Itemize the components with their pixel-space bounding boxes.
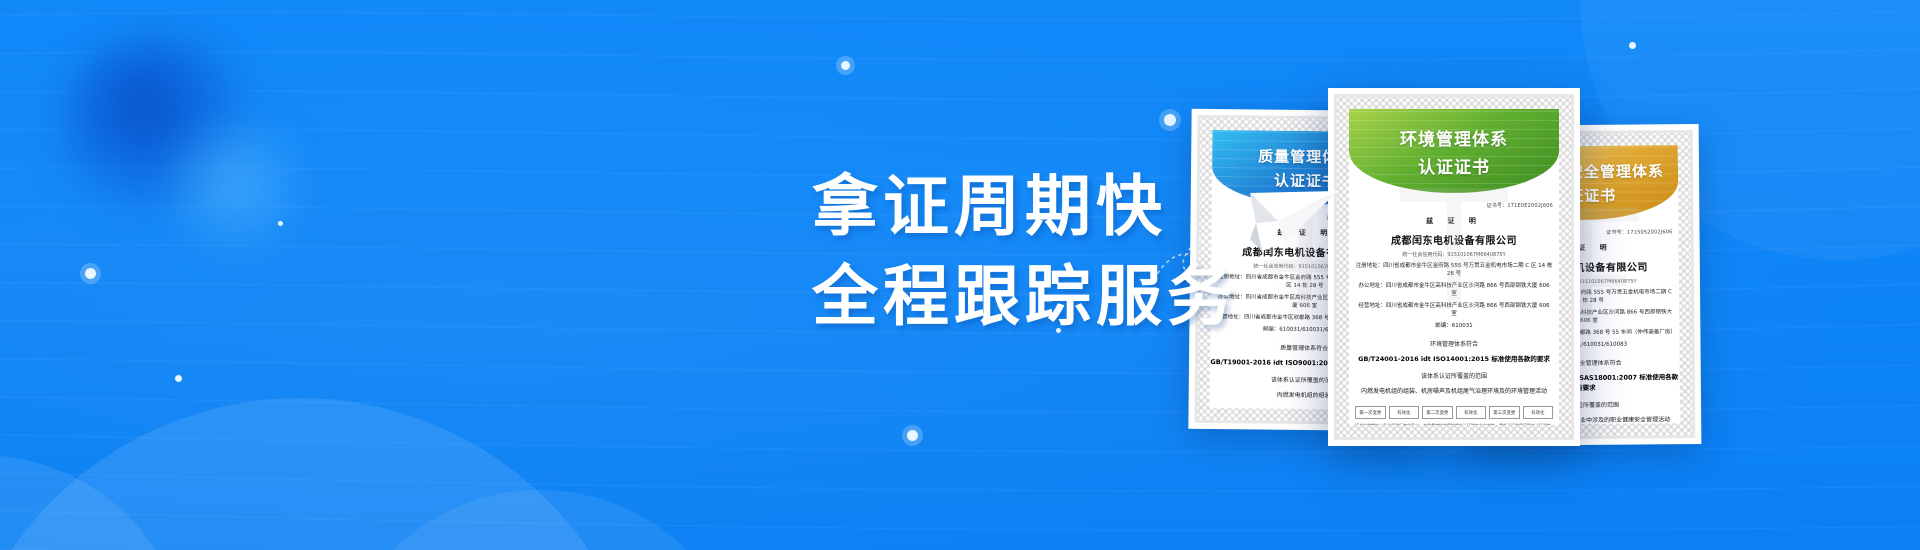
certificate-change-cell: 第一次变更	[1215, 409, 1242, 410]
decor-circle-small-right	[330, 490, 750, 550]
certificate-change-cell: 有效化	[1523, 406, 1554, 419]
particle-dot-8	[175, 375, 182, 382]
certificate-scope-label: 该体系认证所覆盖的范围	[1349, 371, 1559, 380]
certificate-change-cell: 第一次变更	[1355, 406, 1386, 419]
decor-circle-small-left	[0, 455, 190, 550]
particle-dot-5	[907, 430, 918, 441]
certificate-scope: 内燃发电机组的组装、机房噪声及机组尾气治理环境及的环境管理活动	[1349, 387, 1559, 396]
particle-dot-4	[278, 221, 283, 226]
certificate-change-cell: 有效化	[1389, 406, 1420, 419]
certificate-watermark	[1394, 188, 1514, 308]
certificate-change-cell: 第三次变更	[1489, 406, 1520, 419]
certificate-title-line-2: 认证证书	[1418, 153, 1490, 178]
band-watermark-texture	[1349, 109, 1559, 193]
certificate-title-line-1: 环境管理体系	[1400, 125, 1508, 150]
decor-blob-dark	[60, 35, 260, 215]
decor-blob-light	[150, 110, 320, 260]
certificate-standard-label: 环境管理体系符合	[1349, 339, 1559, 348]
decor-circle-large	[0, 398, 650, 550]
certificate-change-cell: 有效化	[1456, 406, 1487, 419]
paper-plane-icon	[1150, 165, 1360, 285]
certificate-body: 环境管理体系认证证书证书号：171E0E2002J606兹 证 明成都闰东电机设…	[1349, 109, 1559, 425]
certificate-header-band: 环境管理体系认证证书	[1349, 109, 1559, 193]
particle-dot-2	[1164, 114, 1176, 126]
certificate-environment[interactable]: 环境管理体系认证证书证书号：171E0E2002J606兹 证 明成都闰东电机设…	[1328, 88, 1580, 446]
certificate-postcode: 邮编：610031	[1349, 322, 1559, 330]
hero-banner: 拿证周期快 全程跟踪服务 质量管理体系认证证书证书号：171C0N2002J60…	[0, 0, 1920, 550]
certificate-change-cell: 第二次变更	[1422, 406, 1453, 419]
certificate-change-table: 第一次变更有效化第二次变更有效化第三次变更有效化	[1355, 406, 1553, 419]
certificate-standard: GB/T24001-2016 idt ISO14001:2015 标准使用各款的…	[1349, 353, 1559, 363]
particle-dot-3	[85, 268, 96, 279]
certificate-change-cell: 有效化	[1245, 409, 1272, 410]
particle-dot-1	[841, 61, 850, 70]
certificate-fine-print: 证书有效期内人员必须进行每年至少一次监督审核并保持相应认证能力与有效性，最新认证…	[1355, 423, 1553, 425]
certificate-border: 环境管理体系认证证书证书号：171E0E2002J606兹 证 明成都闰东电机设…	[1334, 94, 1574, 440]
